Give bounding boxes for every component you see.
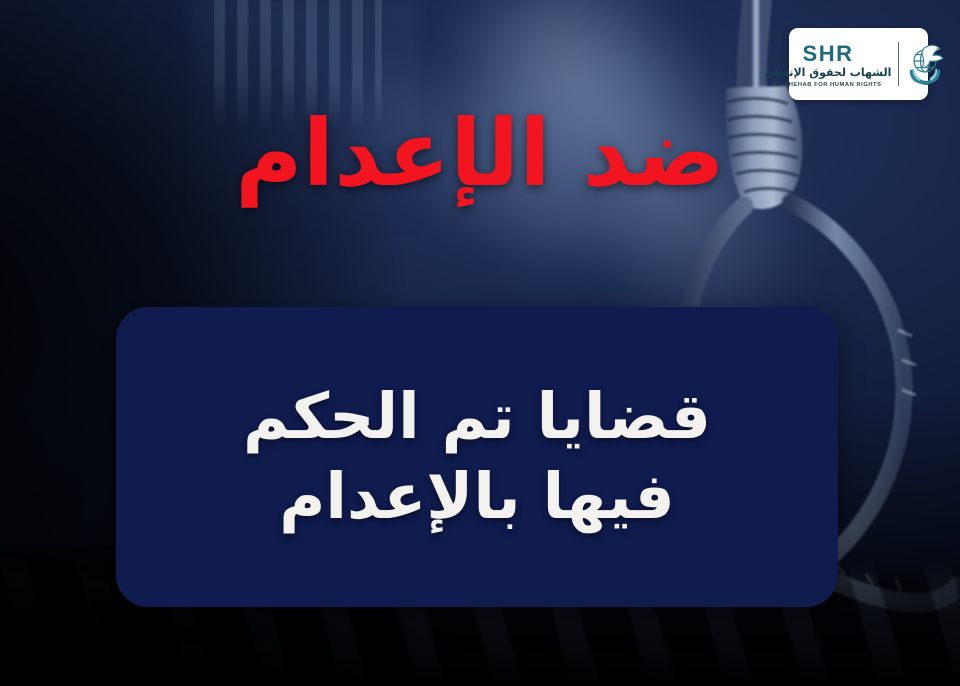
logo-acronym: SHR — [803, 43, 854, 65]
message-line-2: فيها بالإعدام — [279, 464, 675, 530]
shr-logo-badge[interactable]: SHR الشهاب لحقوق الإنسان EL SHEHAB FOR H… — [789, 28, 928, 100]
dove-globe-hands-icon — [906, 39, 952, 89]
logo-english-name: EL SHEHAB FOR HUMAN RIGHTS — [774, 81, 882, 88]
poster-canvas: SHR الشهاب لحقوق الإنسان EL SHEHAB FOR H… — [0, 0, 960, 686]
message-line-1: قضايا تم الحكم — [243, 384, 711, 450]
logo-divider — [898, 42, 899, 86]
logo-wordmark: SHR الشهاب لحقوق الإنسان EL SHEHAB FOR H… — [765, 43, 892, 85]
message-card: قضايا تم الحكم فيها بالإعدام — [116, 307, 838, 607]
logo-arabic-name: الشهاب لحقوق الإنسان — [765, 67, 892, 79]
